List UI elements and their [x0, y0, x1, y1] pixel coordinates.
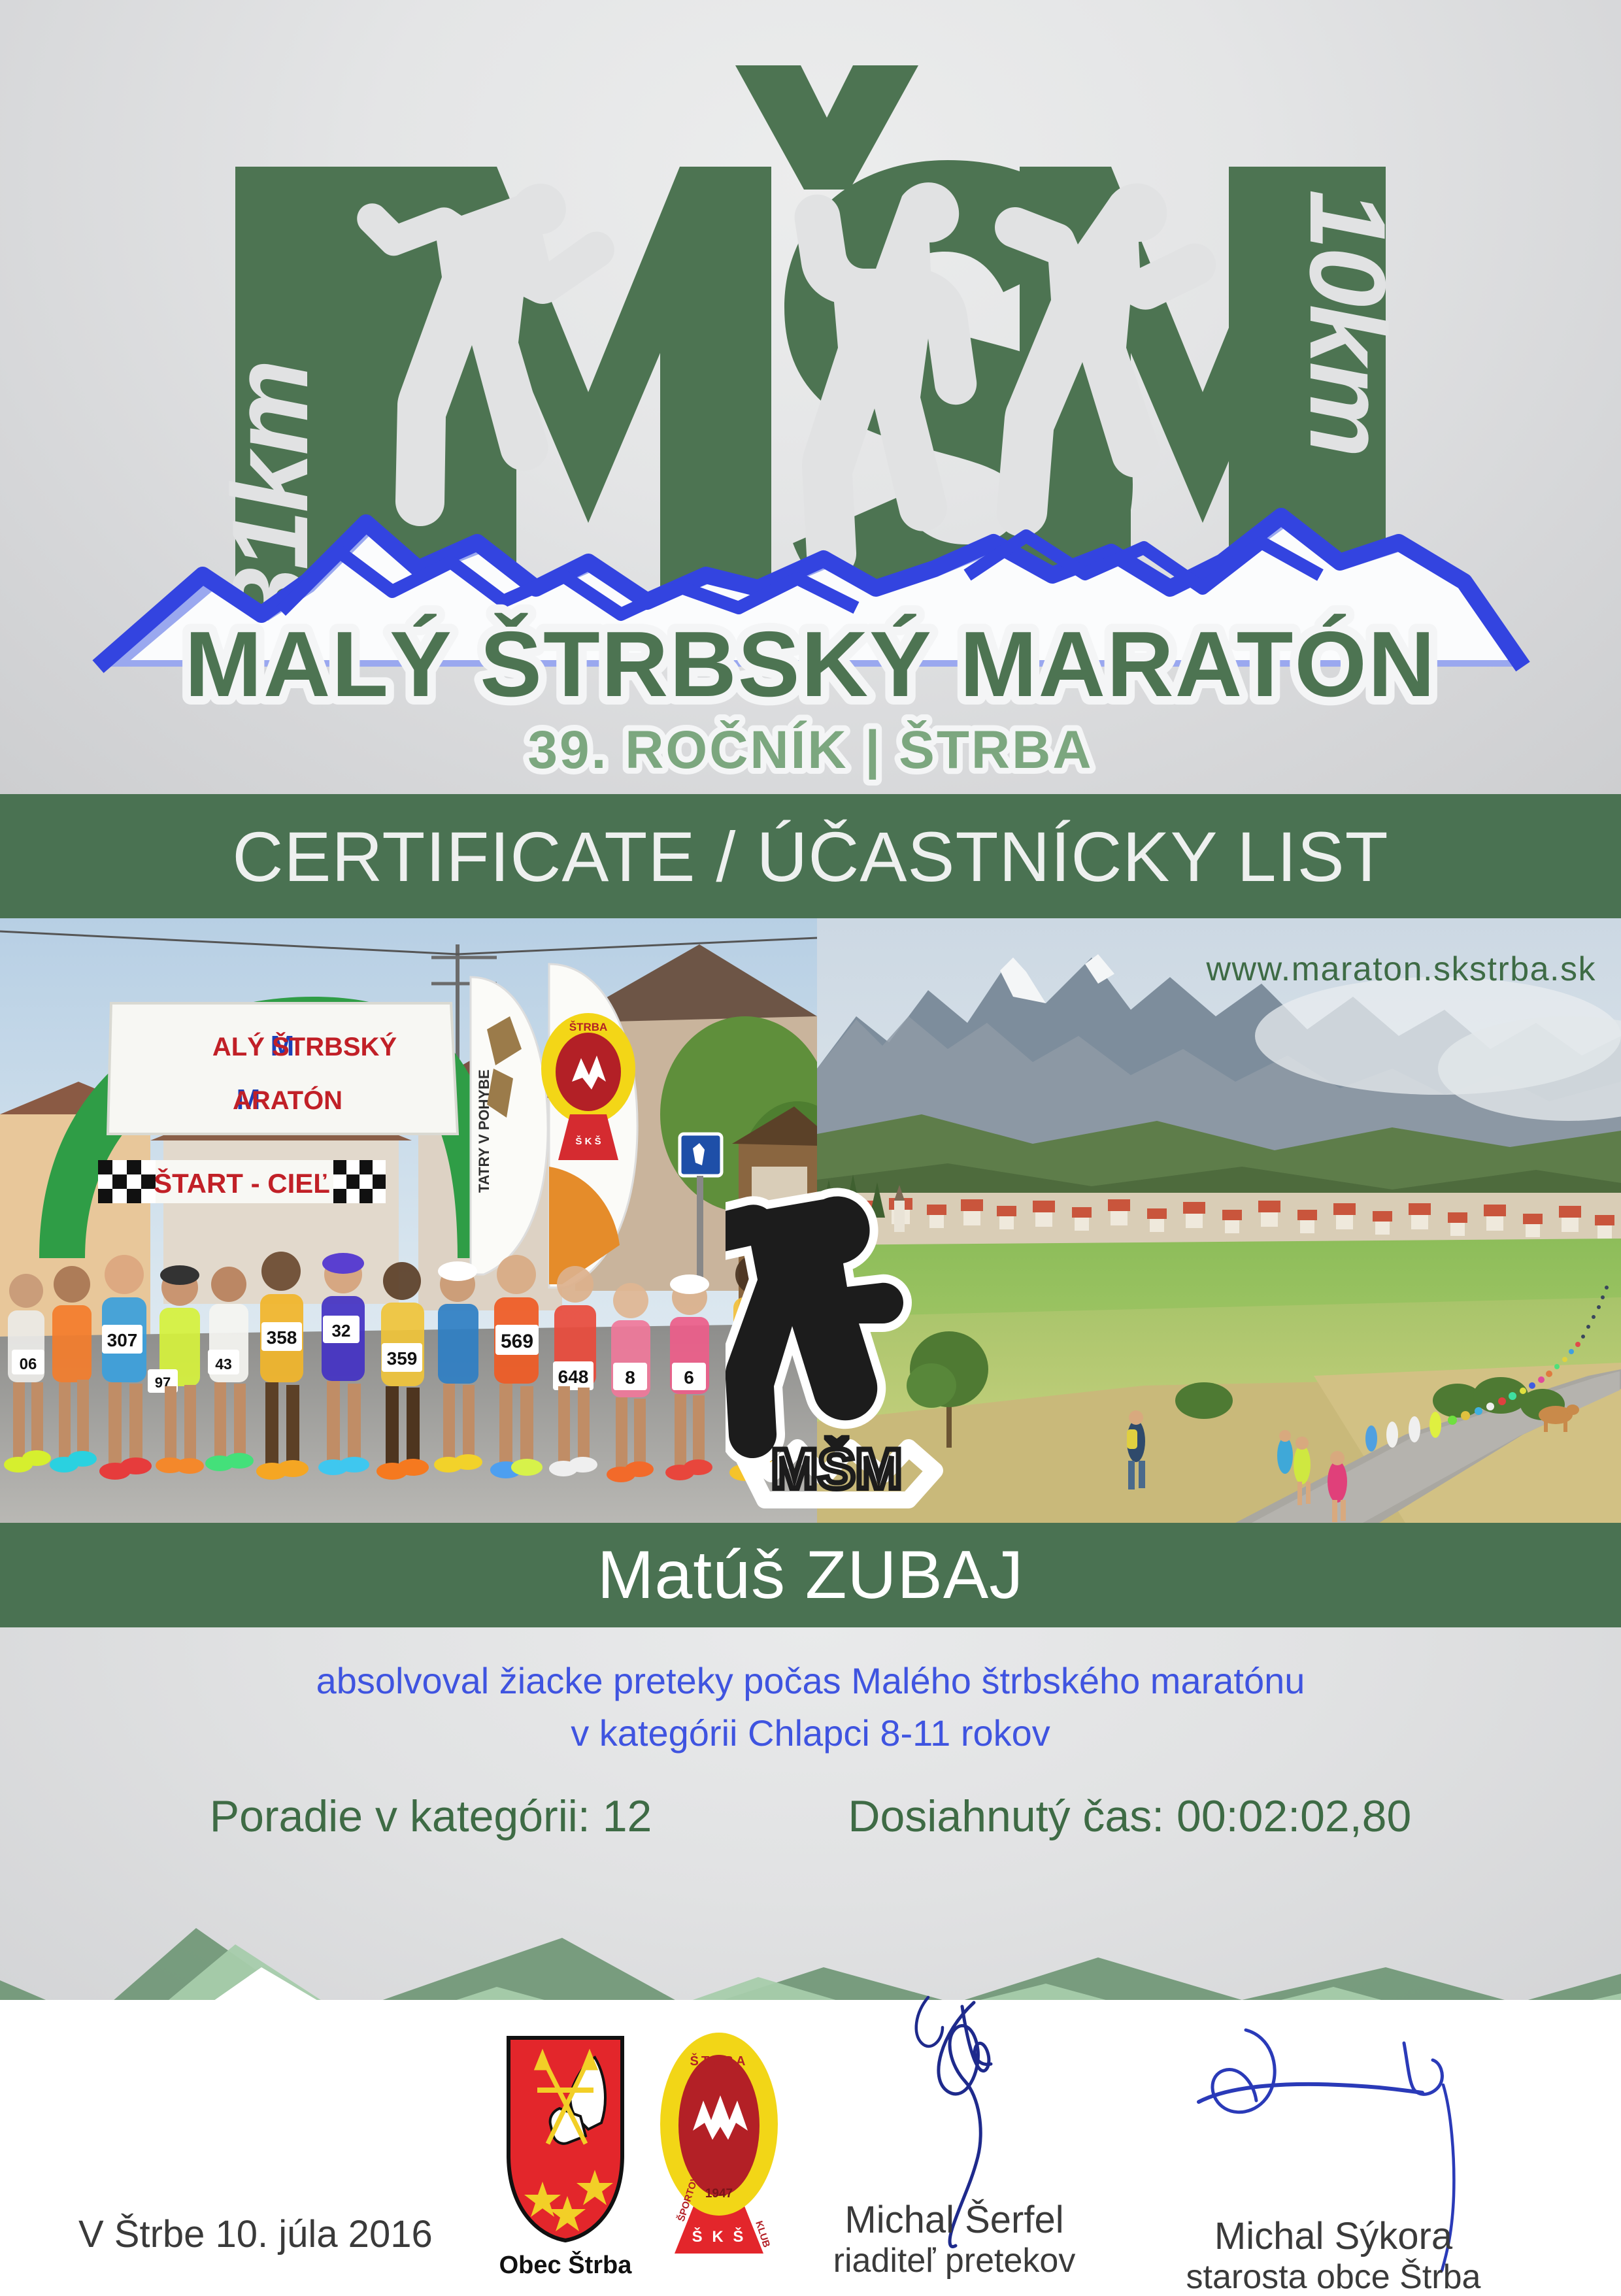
signature-block-1: Michal Šerfel riaditeľ pretekov — [804, 2199, 1105, 2280]
svg-text:ALÝ ŠTRBSKÝ: ALÝ ŠTRBSKÝ — [212, 1031, 397, 1061]
rank-value: Poradie v kategórii: 12 — [210, 1791, 652, 1842]
msm-runner-overlay: MŠM — [726, 1173, 948, 1513]
website-url[interactable]: www.maraton.skstrba.sk — [1207, 950, 1597, 989]
flag-text: TATRY V POHYBE — [476, 1069, 492, 1193]
club-crest-icon: ŠTRBA 1947 ŠPORTOVÝ KLUB Š K Š — [654, 2026, 784, 2255]
club-crest-year: 1947 — [705, 2187, 733, 2201]
certificate-page: 31km 10km — [0, 0, 1621, 2293]
signature-block-2: Michal Sýkora starosta obce Štrba — [1170, 2216, 1497, 2296]
logo-title: MALÝ ŠTRBSKÝ MARATÓN — [185, 612, 1437, 716]
logo-header: 31km 10km — [0, 0, 1621, 794]
race-start-image: M ALÝ ŠTRBSKÝ M ARATÓN — [0, 918, 817, 1523]
village-crest-icon — [497, 2031, 634, 2247]
logo-title-text: MALÝ ŠTRBSKÝ MARATÓN MALÝ ŠTRBSKÝ MARATÓ… — [0, 0, 1621, 794]
description-line-2: v kategórii Chlapci 8-11 rokov — [0, 1707, 1621, 1759]
svg-text:ARATÓN: ARATÓN — [233, 1085, 343, 1115]
svg-text:359: 359 — [387, 1348, 418, 1369]
svg-text:32: 32 — [332, 1321, 351, 1340]
certificate-footer: V Štrbe 10. júla 2016 — [0, 2000, 1621, 2293]
time-value: Dosiahnutý čas: 00:02:02,80 — [848, 1791, 1411, 1842]
recipient-name: Matúš ZUBAJ — [597, 1537, 1024, 1614]
signature-name-1: Michal Šerfel — [804, 2199, 1105, 2242]
description-block: absolvoval žiacke preteky počas Malého š… — [0, 1655, 1621, 1759]
signature-role-2: starosta obce Štrba — [1170, 2258, 1497, 2296]
crosswalk-sign — [680, 1134, 722, 1176]
signature-name-2: Michal Sýkora — [1170, 2216, 1497, 2258]
results-row: Poradie v kategórii: 12 Dosiahnutý čas: … — [0, 1791, 1621, 1842]
club-crest-bottom-text: Š K Š — [692, 2227, 746, 2246]
club-crest-top-text: ŠTRBA — [690, 2053, 748, 2069]
description-line-1: absolvoval žiacke preteky počas Malého š… — [0, 1655, 1621, 1707]
issue-date: V Štrbe 10. júla 2016 — [78, 2212, 433, 2256]
svg-text:6: 6 — [684, 1367, 694, 1388]
svg-text:569: 569 — [501, 1331, 533, 1352]
logo-subtitle: 39. ROČNÍK | ŠTRBA — [527, 720, 1093, 780]
certificate-title-band: CERTIFICATE / ÚČASTNÍCKY LIST — [0, 794, 1621, 918]
svg-text:8: 8 — [625, 1367, 635, 1388]
recipient-name-band: Matúš ZUBAJ — [0, 1523, 1621, 1627]
svg-text:ŠTRBA: ŠTRBA — [569, 1021, 608, 1033]
certificate-body: absolvoval žiacke preteky počas Malého š… — [0, 1627, 1621, 2052]
svg-text:Š K Š: Š K Š — [575, 1135, 601, 1147]
checker-flag-right — [333, 1160, 386, 1203]
arch-line-3: ŠTART - CIEĽ — [154, 1167, 330, 1199]
svg-text:307: 307 — [107, 1330, 138, 1350]
village-crest-label: Obec Štrba — [480, 2252, 650, 2280]
svg-text:648: 648 — [558, 1367, 589, 1387]
photo-strip: M ALÝ ŠTRBSKÝ M ARATÓN — [0, 918, 1621, 1523]
svg-text:358: 358 — [267, 1327, 297, 1348]
certificate-title: CERTIFICATE / ÚČASTNÍCKY LIST — [232, 816, 1388, 897]
photo-race-start: M ALÝ ŠTRBSKÝ M ARATÓN — [0, 918, 817, 1523]
svg-text:43: 43 — [215, 1356, 232, 1373]
msm-overlay-text: MŠM — [771, 1438, 903, 1501]
checker-flag-left — [98, 1160, 156, 1203]
svg-text:06: 06 — [20, 1356, 37, 1373]
signature-role-1: riaditeľ pretekov — [804, 2242, 1105, 2280]
